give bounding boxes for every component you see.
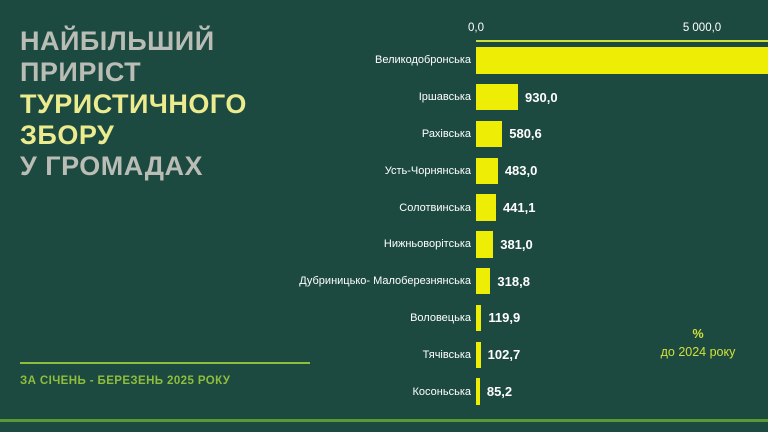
x-axis-tick: 0,0 <box>468 22 484 34</box>
footer-block: ЗА СІЧЕНЬ - БЕРЕЗЕНЬ 2025 РОКУ <box>20 362 310 387</box>
bar-category-label: Косоньська <box>413 386 471 398</box>
axis-unit-note: % до 2024 року <box>628 325 768 361</box>
bar-chart: 0,05 000,0 Великодобронська7 990,0Іршавс… <box>330 0 768 432</box>
bar-value-label: 441,1 <box>503 200 536 215</box>
bar-value-label: 102,7 <box>488 347 521 362</box>
bar[interactable] <box>476 84 518 110</box>
bar-value-label: 85,2 <box>487 384 512 399</box>
bar-row[interactable]: Іршавська930,0 <box>330 84 768 110</box>
bar[interactable] <box>476 47 768 73</box>
headline-line-4: ЗБОРУ <box>20 120 330 151</box>
headline-line-5: У ГРОМАДАХ <box>20 151 330 182</box>
bar[interactable] <box>476 378 480 404</box>
bar-category-label: Тячівська <box>423 349 471 361</box>
bar-value-label: 483,0 <box>505 163 538 178</box>
bar-row[interactable]: Усть-Чорнянська483,0 <box>330 158 768 184</box>
headline-line-3: ТУРИСТИЧНОГО <box>20 89 330 120</box>
bar-category-label: Іршавська <box>419 91 471 103</box>
bar-value-label: 381,0 <box>500 237 533 252</box>
bar-row[interactable]: Косоньська85,2 <box>330 378 768 404</box>
bar-category-label: Нижньоворітська <box>384 238 471 250</box>
bar-row[interactable]: Солотвинська441,1 <box>330 194 768 220</box>
bar-category-label: Великодобронська <box>375 54 471 66</box>
bar[interactable] <box>476 231 493 257</box>
left-panel: НАЙБІЛЬШИЙ ПРИРІСТ ТУРИСТИЧНОГО ЗБОРУ У … <box>0 0 330 432</box>
headline-line-2: ПРИРІСТ <box>20 57 330 88</box>
bar[interactable] <box>476 158 498 184</box>
bar[interactable] <box>476 305 481 331</box>
percent-symbol: % <box>628 325 768 343</box>
bar-row[interactable]: Великодобронська7 990,0 <box>330 47 768 73</box>
bar-row[interactable]: Дубриницько- Малоберезнянська318,8 <box>330 268 768 294</box>
bar-value-label: 318,8 <box>497 274 530 289</box>
bar-category-label: Солотвинська <box>399 202 471 214</box>
bar-category-label: Рахівська <box>422 128 471 140</box>
bar-value-label: 930,0 <box>525 90 558 105</box>
period-caption: ЗА СІЧЕНЬ - БЕРЕЗЕНЬ 2025 РОКУ <box>20 375 310 387</box>
bottom-accent-rule <box>0 419 768 422</box>
bar[interactable] <box>476 194 496 220</box>
bar-row[interactable]: Рахівська580,6 <box>330 121 768 147</box>
bar-category-label: Усть-Чорнянська <box>385 165 471 177</box>
bar-value-label: 580,6 <box>509 126 542 141</box>
page-title: НАЙБІЛЬШИЙ ПРИРІСТ ТУРИСТИЧНОГО ЗБОРУ У … <box>20 26 330 183</box>
x-axis-tick: 5 000,0 <box>683 22 721 34</box>
bar-row[interactable]: Нижньоворітська381,0 <box>330 231 768 257</box>
bar[interactable] <box>476 268 490 294</box>
bar-category-label: Воловецька <box>410 312 471 324</box>
bar-value-label: 119,9 <box>488 310 520 325</box>
x-axis-ticks: 0,05 000,0 <box>330 22 768 38</box>
bar[interactable] <box>476 121 502 147</box>
comparison-year-label: до 2024 року <box>628 343 768 361</box>
bar-category-label: Дубриницько- Малоберезнянська <box>299 275 471 287</box>
headline-line-1: НАЙБІЛЬШИЙ <box>20 26 330 57</box>
bar[interactable] <box>476 342 481 368</box>
divider <box>20 362 310 364</box>
